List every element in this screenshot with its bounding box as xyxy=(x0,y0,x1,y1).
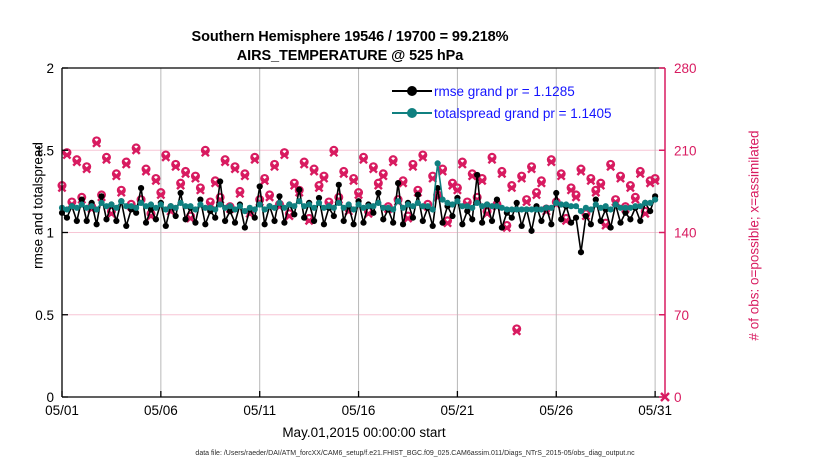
chart-legend: rmse grand pr = 1.1285 totalspread grand… xyxy=(392,80,612,124)
xtick-label-4: 05/21 xyxy=(441,403,475,418)
ytick-label-right-1: 70 xyxy=(674,308,689,323)
ytick-label-left-4: 2 xyxy=(46,61,54,76)
xtick-label-0: 05/01 xyxy=(45,403,79,418)
legend-item-rmse: rmse grand pr = 1.1285 xyxy=(392,80,612,102)
plot-area: 00.511.5207014021028005/0105/0605/1105/1… xyxy=(0,0,830,470)
xtick-label-5: 05/26 xyxy=(539,403,573,418)
ytick-label-right-2: 140 xyxy=(674,226,697,241)
xtick-label-3: 05/16 xyxy=(342,403,376,418)
legend-marker-rmse xyxy=(392,84,432,98)
xtick-label-1: 05/06 xyxy=(144,403,178,418)
legend-item-totalspread: totalspread grand pr = 1.1405 xyxy=(392,102,612,124)
figure-canvas: Southern Hemisphere 19546 / 19700 = 99.2… xyxy=(0,0,830,470)
xtick-label-6: 05/31 xyxy=(638,403,672,418)
xtick-label-2: 05/11 xyxy=(243,403,276,418)
ytick-label-left-3: 1.5 xyxy=(35,143,54,158)
ytick-label-left-1: 0.5 xyxy=(35,308,54,323)
ytick-label-right-4: 280 xyxy=(674,61,697,76)
legend-label-rmse: rmse grand pr = 1.1285 xyxy=(432,84,575,99)
ytick-label-right-3: 210 xyxy=(674,143,697,158)
ytick-label-right-0: 0 xyxy=(674,390,682,405)
legend-label-totalspread: totalspread grand pr = 1.1405 xyxy=(432,106,612,121)
legend-marker-totalspread xyxy=(392,106,432,120)
ytick-label-left-2: 1 xyxy=(46,226,54,241)
